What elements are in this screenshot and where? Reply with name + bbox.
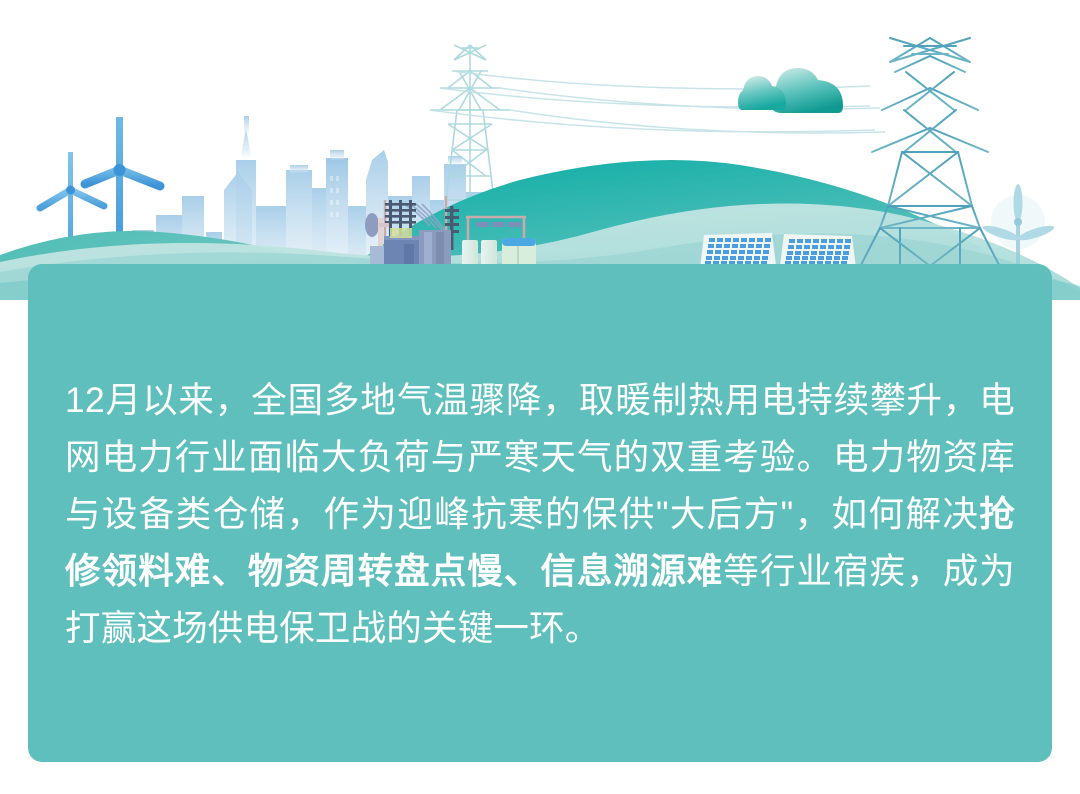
hero-illustration xyxy=(0,0,1080,300)
text-run: 12月以来，全国多地气温骤降，取暖制热用电持续攀升，电网电力行业面临大负荷与严寒… xyxy=(65,380,1015,534)
text-card: 12月以来，全国多地气温骤降，取暖制热用电持续攀升，电网电力行业面临大负荷与严寒… xyxy=(28,264,1052,762)
poster-root: 12月以来，全国多地气温骤降，取暖制热用电持续攀升，电网电力行业面临大负荷与严寒… xyxy=(0,0,1080,794)
transmission-tower-mid xyxy=(430,45,510,200)
body-paragraph: 12月以来，全国多地气温骤降，取暖制热用电持续攀升，电网电力行业面临大负荷与严寒… xyxy=(65,372,1015,657)
